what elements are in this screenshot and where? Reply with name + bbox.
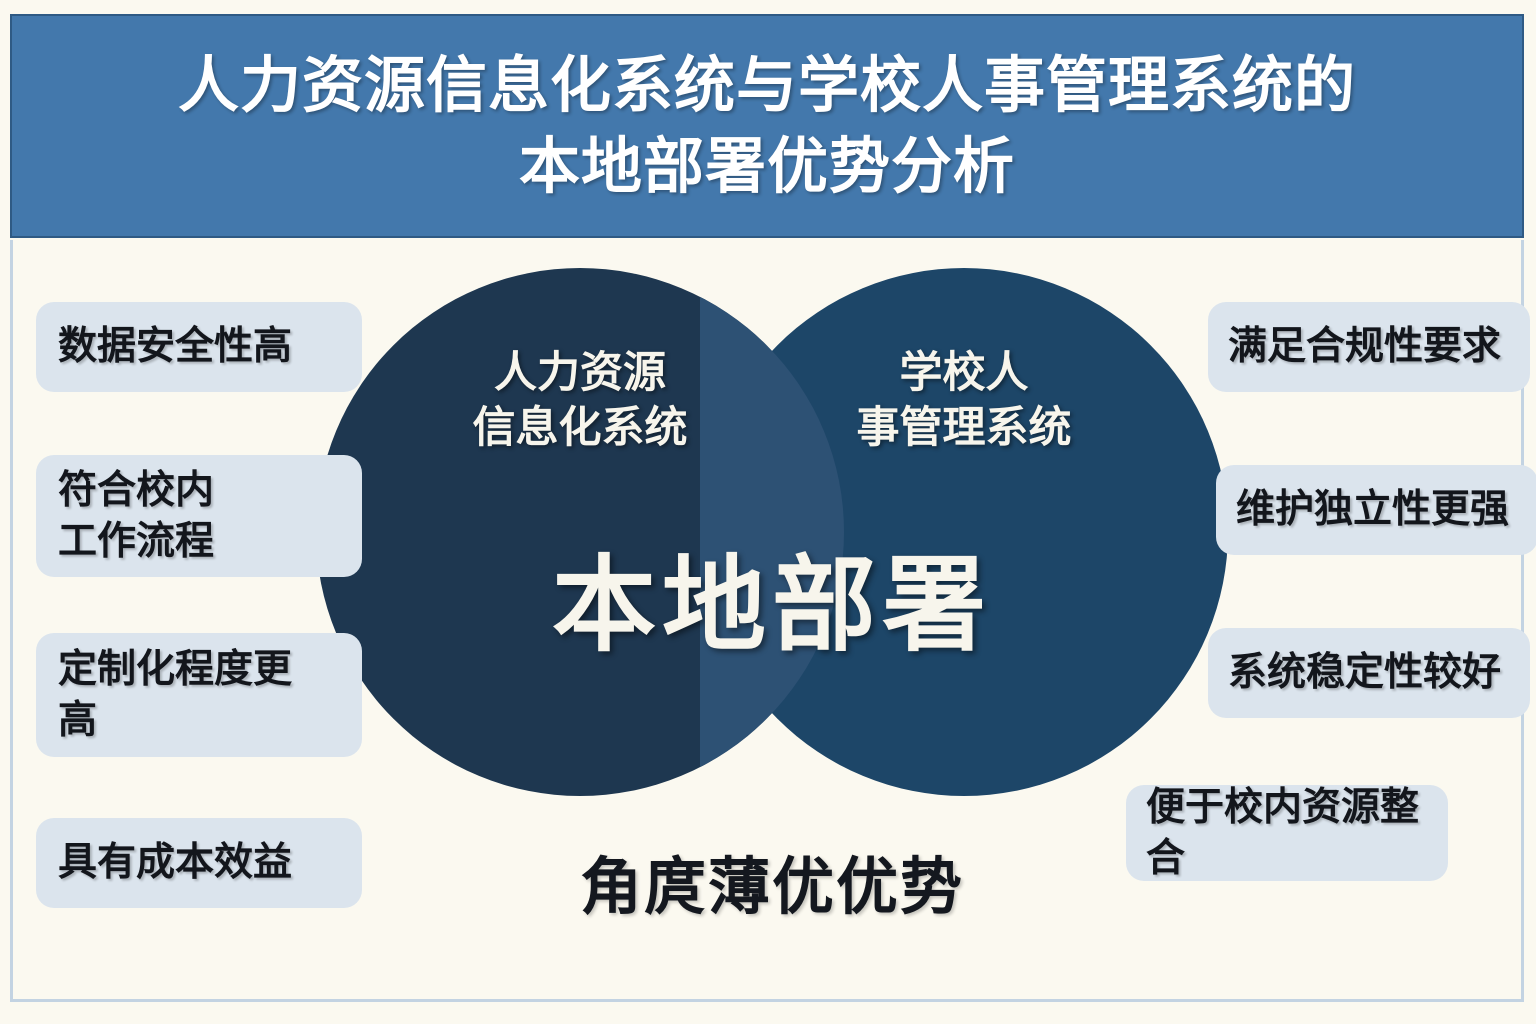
slide-canvas: 人力资源信息化系统与学校人事管理系统的 本地部署优势分析 人力资源 信息化系统 … <box>0 0 1536 1024</box>
diagram-caption: 角庹薄优优势 <box>316 836 1228 926</box>
title-banner: 人力资源信息化系统与学校人事管理系统的 本地部署优势分析 <box>10 14 1524 238</box>
venn-circle-left-label: 人力资源 信息化系统 <box>370 346 790 456</box>
page-title-line-2: 本地部署优势分析 <box>519 126 1015 207</box>
benefit-pill-right-3: 系统稳定性较好 <box>1208 628 1530 718</box>
venn-overlap-label: 本地部署 <box>316 520 1228 671</box>
page-title-line-1: 人力资源信息化系统与学校人事管理系统的 <box>178 45 1356 126</box>
benefit-pill-right-1: 满足合规性要求 <box>1208 302 1530 392</box>
benefit-pill-left-4: 具有成本效益 <box>36 818 362 908</box>
benefit-pill-left-3: 定制化程度更 高 <box>36 633 362 757</box>
venn-circle-right-label: 学校人 事管理系统 <box>754 346 1174 456</box>
venn-diagram: 人力资源 信息化系统 学校人 事管理系统 本地部署 <box>316 268 1228 798</box>
benefit-pill-right-2: 维护独立性更强 <box>1216 465 1536 555</box>
benefit-pill-right-4: 便于校内资源整合 <box>1126 785 1448 881</box>
benefit-pill-left-2: 符合校内 工作流程 <box>36 455 362 577</box>
benefit-pill-right-2-label: 维护独立性更强 <box>1236 484 1509 535</box>
benefit-pill-left-1: 数据安全性高 <box>36 302 362 392</box>
